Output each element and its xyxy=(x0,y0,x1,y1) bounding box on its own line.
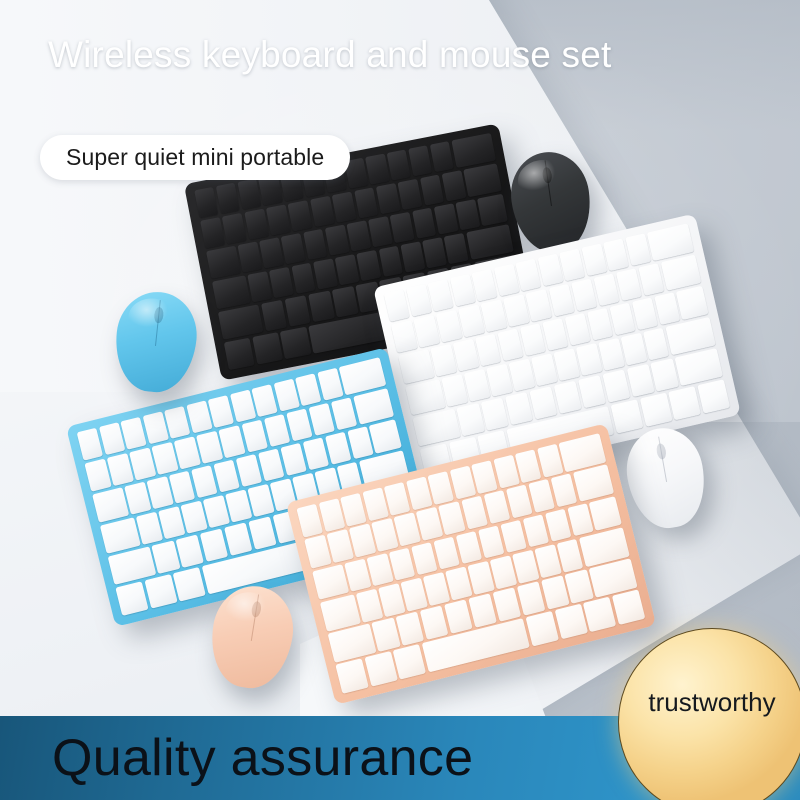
badge-label: trustworthy xyxy=(648,687,775,718)
banner-title: Quality assurance xyxy=(52,728,473,788)
trustworthy-badge: trustworthy xyxy=(618,628,800,800)
feature-pill-label: Super quiet mini portable xyxy=(40,135,350,180)
product-banner-image: Wireless keyboard and mouse set Super qu… xyxy=(0,0,800,800)
page-title: Wireless keyboard and mouse set xyxy=(48,36,612,73)
